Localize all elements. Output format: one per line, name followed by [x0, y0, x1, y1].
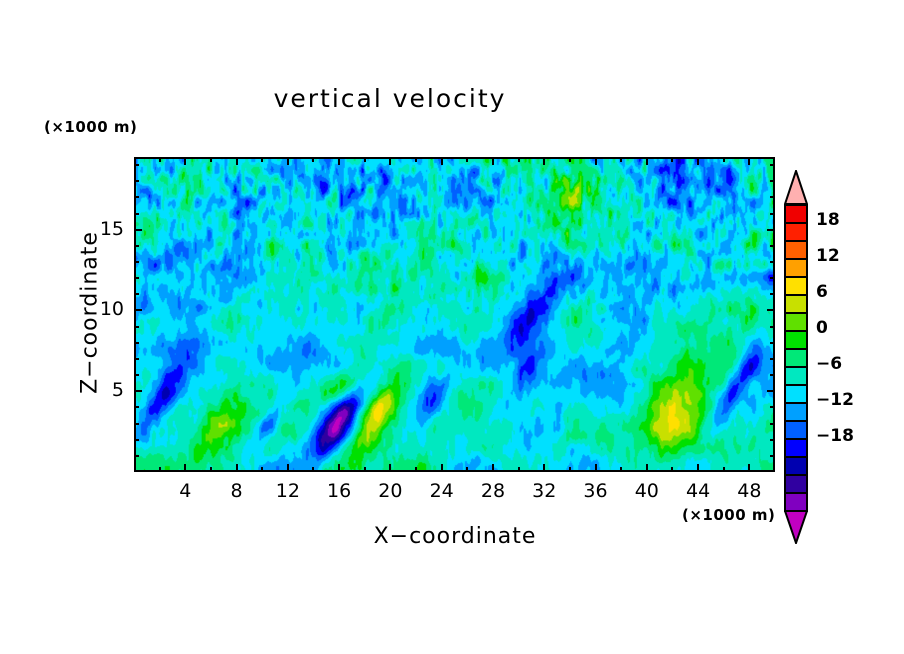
- z-tick-10: [134, 309, 142, 311]
- z-tick-14: [134, 245, 139, 247]
- x-tick-top-32: [543, 157, 545, 165]
- colorbar-label-neg6: −6: [816, 354, 842, 374]
- x-tick-top-36: [595, 157, 597, 165]
- colorbar-band-16: [784, 204, 808, 224]
- x-tick-top-14: [312, 157, 314, 162]
- z-tick-6: [134, 374, 139, 376]
- colorbar-band-11: [784, 294, 808, 314]
- z-tick-15: [134, 229, 142, 231]
- colorbar-band-3: [784, 438, 808, 458]
- x-tick-24: [441, 464, 443, 472]
- x-tick-top-20: [389, 157, 391, 165]
- z-tick-3: [134, 423, 139, 425]
- colorbar-label-neg18: −18: [816, 426, 854, 446]
- x-tick-top-8: [236, 157, 238, 165]
- z-tick-right-8: [770, 342, 775, 344]
- x-tick-top-30: [518, 157, 520, 162]
- z-tick-9: [134, 326, 139, 328]
- colorbar-band-12: [784, 276, 808, 296]
- colorbar-band-5: [784, 402, 808, 422]
- z-tick-right-4: [770, 406, 775, 408]
- colorbar-band-2: [784, 456, 808, 476]
- x-tick-top-6: [210, 157, 212, 162]
- page-title: vertical velocity: [0, 84, 780, 113]
- colorbar-band-6: [784, 384, 808, 404]
- colorbar-band-13: [784, 258, 808, 278]
- x-tick-top-24: [441, 157, 443, 165]
- x-tick-top-22: [415, 157, 417, 162]
- colorbar-band-8: [784, 348, 808, 368]
- colorbar-over-cap: [784, 170, 808, 204]
- x-tick-38: [620, 467, 622, 472]
- z-tick-right-10: [767, 309, 775, 311]
- x-tick-top-44: [697, 157, 699, 165]
- x-tick-20: [389, 464, 391, 472]
- x-axis-title: X−coordinate: [134, 524, 776, 549]
- x-tick-14: [312, 467, 314, 472]
- x-tick-top-40: [646, 157, 648, 165]
- x-tick-16: [338, 464, 340, 472]
- x-tick-42: [671, 467, 673, 472]
- z-tick-right-6: [770, 374, 775, 376]
- z-tick-17: [134, 196, 139, 198]
- x-unit-label: (×1000 m): [682, 506, 775, 524]
- z-tick-right-17: [770, 196, 775, 198]
- x-tick-top-4: [184, 157, 186, 165]
- z-tick-right-3: [770, 423, 775, 425]
- x-tick-18: [364, 467, 366, 472]
- z-tick-5: [134, 390, 142, 392]
- z-tick-label-15: 15: [78, 218, 124, 240]
- x-tick-4: [184, 464, 186, 472]
- z-tick-16: [134, 213, 139, 215]
- x-tick-top-46: [723, 157, 725, 162]
- z-tick-right-9: [770, 326, 775, 328]
- colorbar-label-6: 6: [816, 282, 828, 302]
- colorbar-band-4: [784, 420, 808, 440]
- x-tick-34: [569, 467, 571, 472]
- x-tick-top-18: [364, 157, 366, 162]
- x-tick-26: [466, 467, 468, 472]
- x-tick-22: [415, 467, 417, 472]
- colorbar-band-0: [784, 492, 808, 512]
- z-tick-4: [134, 406, 139, 408]
- z-tick-right-7: [770, 358, 775, 360]
- colorbar-label-12: 12: [816, 246, 840, 266]
- x-tick-top-48: [748, 157, 750, 165]
- x-tick-32: [543, 464, 545, 472]
- colorbar-label-18: 18: [816, 210, 840, 230]
- colorbar-band-9: [784, 330, 808, 350]
- x-tick-36: [595, 464, 597, 472]
- x-tick-48: [748, 464, 750, 472]
- x-tick-8: [236, 464, 238, 472]
- x-tick-6: [210, 467, 212, 472]
- y-unit-label: (×1000 m): [44, 118, 137, 136]
- z-tick-18: [134, 180, 139, 182]
- colorbar-band-14: [784, 240, 808, 260]
- z-tick-19: [134, 164, 139, 166]
- colorbar-band-10: [784, 312, 808, 332]
- x-tick-2: [159, 467, 161, 472]
- z-tick-2: [134, 439, 139, 441]
- z-tick-1: [134, 455, 139, 457]
- z-tick-8: [134, 342, 139, 344]
- z-tick-12: [134, 277, 139, 279]
- x-tick-44: [697, 464, 699, 472]
- colorbar-band-7: [784, 366, 808, 386]
- figure-canvas: vertical velocity (×1000 m) (×1000 m) Z−…: [0, 0, 904, 654]
- z-tick-right-2: [770, 439, 775, 441]
- x-tick-top-16: [338, 157, 340, 165]
- colorbar: 181260−6−12−18: [784, 204, 810, 524]
- x-tick-12: [287, 464, 289, 472]
- colorbar-band-15: [784, 222, 808, 242]
- colorbar-under-cap: [784, 510, 808, 544]
- z-tick-13: [134, 261, 139, 263]
- z-tick-right-19: [770, 164, 775, 166]
- x-tick-10: [261, 467, 263, 472]
- x-tick-46: [723, 467, 725, 472]
- z-tick-label-10: 10: [78, 298, 124, 320]
- z-tick-label-5: 5: [78, 379, 124, 401]
- x-tick-top-12: [287, 157, 289, 165]
- z-tick-right-13: [770, 261, 775, 263]
- z-tick-11: [134, 293, 139, 295]
- z-tick-right-14: [770, 245, 775, 247]
- x-tick-40: [646, 464, 648, 472]
- colorbar-label-neg12: −12: [816, 390, 854, 410]
- x-tick-top-34: [569, 157, 571, 162]
- contour-plot-area: [134, 157, 775, 472]
- z-tick-right-18: [770, 180, 775, 182]
- x-tick-top-10: [261, 157, 263, 162]
- z-tick-right-5: [767, 390, 775, 392]
- x-tick-top-38: [620, 157, 622, 162]
- x-tick-30: [518, 467, 520, 472]
- x-tick-top-28: [492, 157, 494, 165]
- z-tick-right-11: [770, 293, 775, 295]
- x-tick-top-42: [671, 157, 673, 162]
- z-tick-right-15: [767, 229, 775, 231]
- x-tick-top-2: [159, 157, 161, 162]
- x-tick-28: [492, 464, 494, 472]
- contour-field: [136, 159, 773, 470]
- z-tick-7: [134, 358, 139, 360]
- z-tick-right-1: [770, 455, 775, 457]
- z-tick-right-16: [770, 213, 775, 215]
- colorbar-band-1: [784, 474, 808, 494]
- x-tick-label-48: 48: [719, 480, 779, 502]
- x-tick-top-26: [466, 157, 468, 162]
- colorbar-label-0: 0: [816, 318, 828, 338]
- z-tick-right-12: [770, 277, 775, 279]
